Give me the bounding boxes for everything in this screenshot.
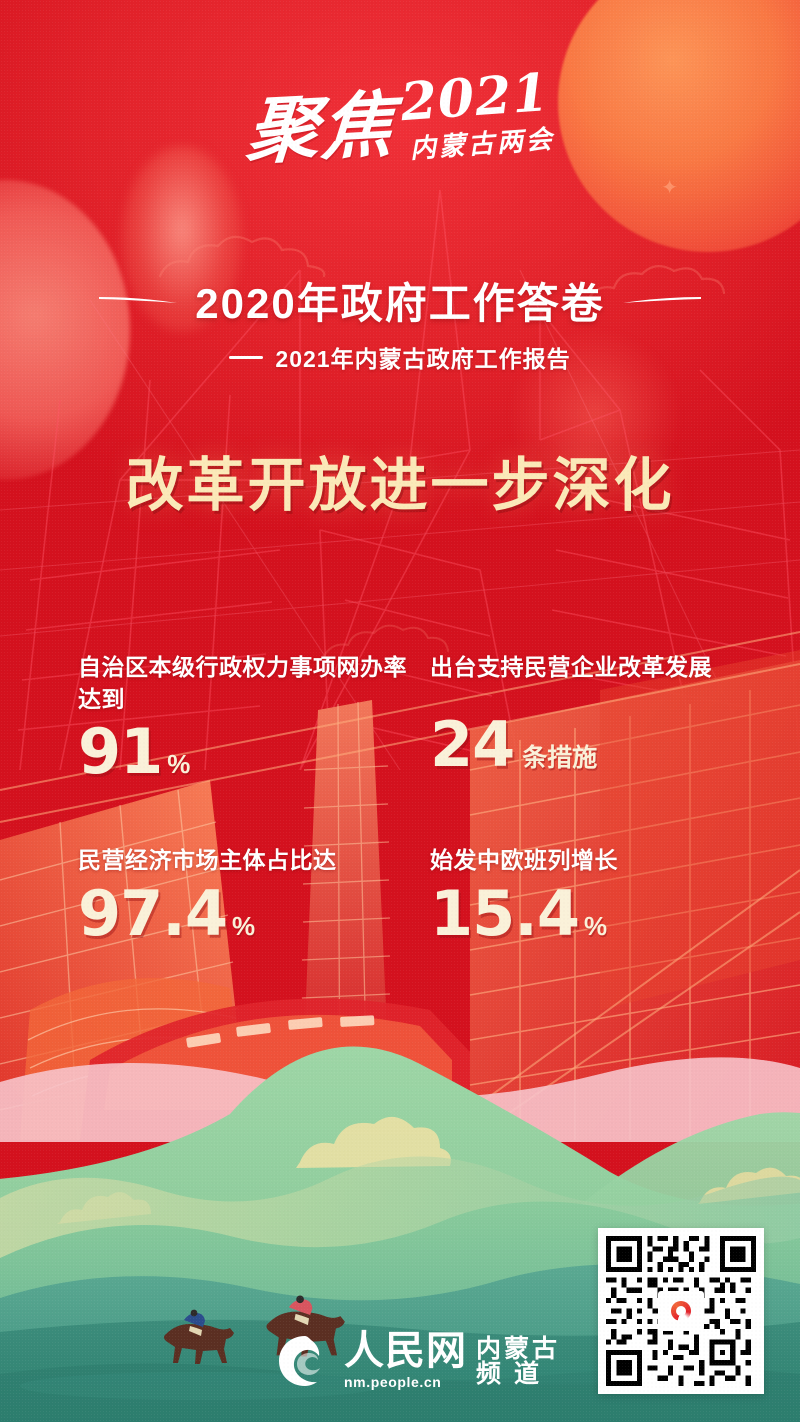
stat-value-row: 91 % bbox=[78, 721, 430, 783]
stat-unit: % bbox=[584, 911, 607, 942]
stat-label: 自治区本级行政权力事项网办率达到 bbox=[78, 652, 430, 715]
title-swish-left-icon bbox=[99, 295, 177, 305]
stat-item: 民营经济市场主体占比达 97.4 % bbox=[78, 845, 430, 945]
stat-number: 97.4 bbox=[78, 883, 227, 945]
stat-label: 始发中欧班列增长 bbox=[430, 845, 738, 877]
title-row: 2020年政府工作答卷 bbox=[0, 272, 800, 328]
page-title: 2020年政府工作答卷 bbox=[195, 270, 604, 331]
stat-value-row: 24 条措施 bbox=[430, 714, 738, 776]
calligraphy-main-text: 聚焦 bbox=[245, 91, 398, 165]
channel-line-2: 频 道 bbox=[476, 1362, 560, 1388]
qr-code-matrix bbox=[606, 1236, 756, 1386]
section-headline: 改革开放进一步深化 bbox=[125, 438, 674, 522]
qr-code[interactable] bbox=[598, 1228, 764, 1394]
footer-brand-text: 人民网 nm.people.cn 内蒙古 频 道 bbox=[344, 1332, 560, 1389]
people-daily-swoosh-icon bbox=[671, 1301, 691, 1321]
people-cn-logo-icon bbox=[276, 1332, 334, 1390]
poster-root: ✦ bbox=[0, 0, 800, 1422]
subtitle-dash-icon bbox=[229, 356, 263, 359]
stats-grid: 自治区本级行政权力事项网办率达到 91 % 出台支持民营企业改革发展 24 条措… bbox=[78, 652, 738, 945]
stat-unit: % bbox=[167, 749, 190, 780]
stat-item: 始发中欧班列增长 15.4 % bbox=[430, 845, 738, 945]
stat-number: 24 bbox=[430, 714, 514, 776]
stat-unit: % bbox=[232, 911, 255, 942]
qr-center-logo bbox=[658, 1291, 704, 1331]
stat-item: 出台支持民营企业改革发展 24 条措施 bbox=[430, 652, 738, 783]
footer-brand[interactable]: 人民网 nm.people.cn 内蒙古 频 道 bbox=[276, 1332, 560, 1390]
stat-item: 自治区本级行政权力事项网办率达到 91 % bbox=[78, 652, 430, 783]
title-swish-right-icon bbox=[623, 295, 701, 305]
stat-unit: 条措施 bbox=[522, 738, 597, 774]
brand-name: 人民网 bbox=[344, 1332, 467, 1370]
header-calligraphy-logo: 聚焦 2021 内蒙古两会 bbox=[0, 52, 800, 182]
stat-number: 15.4 bbox=[430, 883, 579, 945]
subtitle-row: 2021年内蒙古政府工作报告 bbox=[0, 340, 800, 374]
stat-label: 出台支持民营企业改革发展 bbox=[430, 652, 738, 684]
stat-label: 民营经济市场主体占比达 bbox=[78, 845, 430, 877]
calligraphy-year: 2021 bbox=[399, 68, 551, 128]
page-subtitle: 2021年内蒙古政府工作报告 bbox=[275, 340, 570, 374]
channel-line-1: 内蒙古 bbox=[476, 1337, 560, 1363]
stat-number: 91 bbox=[78, 721, 162, 783]
brand-url: nm.people.cn bbox=[344, 1374, 441, 1390]
headline-row: 改革开放进一步深化 bbox=[0, 438, 800, 522]
stat-value-row: 97.4 % bbox=[78, 883, 430, 945]
stat-value-row: 15.4 % bbox=[430, 883, 738, 945]
